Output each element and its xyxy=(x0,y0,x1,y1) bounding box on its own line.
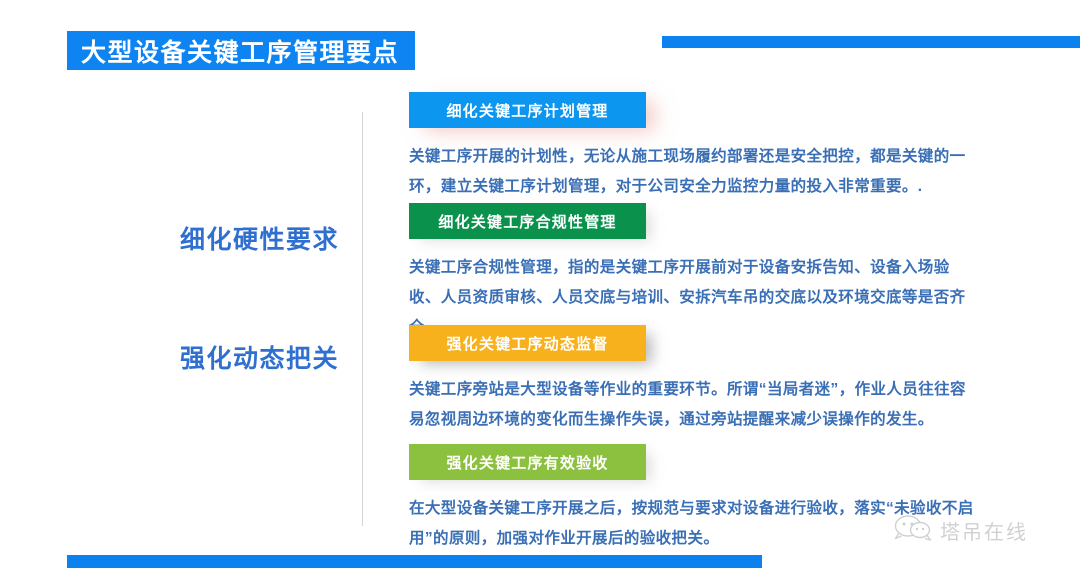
side-label-strengthen-dynamic-control: 强化动态把关 xyxy=(180,339,339,375)
badge-label: 细化关键工序计划管理 xyxy=(446,100,608,121)
wechat-bubbles-icon xyxy=(893,513,933,548)
page-title-banner: 大型设备关键工序管理要点 xyxy=(67,31,415,70)
badge-plan-management: 细化关键工序计划管理 xyxy=(409,92,646,128)
badge-label: 细化关键工序合规性管理 xyxy=(438,211,616,232)
content-block-compliance-management: 细化关键工序合规性管理 关键工序合规性管理，指的是关键工序开展前对于设备安拆告知… xyxy=(409,203,979,343)
watermark: 塔吊在线 xyxy=(893,513,1028,548)
content-block-dynamic-supervision: 强化关键工序动态监督 关键工序旁站是大型设备等作业的重要环节。所谓“当局者迷”，… xyxy=(409,325,979,435)
body-text-dynamic-supervision: 关键工序旁站是大型设备等作业的重要环节。所谓“当局者迷”，作业人员往往容易忽视周… xyxy=(409,375,979,435)
badge-label: 强化关键工序有效验收 xyxy=(446,452,608,473)
decorative-bar-bottom-left xyxy=(67,555,762,568)
badge-dynamic-supervision: 强化关键工序动态监督 xyxy=(409,325,646,361)
page-title: 大型设备关键工序管理要点 xyxy=(81,33,399,69)
vertical-divider xyxy=(362,112,363,526)
body-text-plan-management: 关键工序开展的计划性，无论从施工现场履约部署还是安全把控，都是关键的一环，建立关… xyxy=(409,142,979,202)
content-block-plan-management: 细化关键工序计划管理 关键工序开展的计划性，无论从施工现场履约部署还是安全把控，… xyxy=(409,92,979,202)
side-label-refine-hard-requirements: 细化硬性要求 xyxy=(180,220,339,256)
badge-compliance-management: 细化关键工序合规性管理 xyxy=(409,203,646,239)
slide-canvas: 大型设备关键工序管理要点 细化硬性要求 强化动态把关 细化关键工序计划管理 关键… xyxy=(0,0,1080,572)
watermark-label: 塔吊在线 xyxy=(940,516,1028,545)
decorative-bar-top-right xyxy=(662,36,1080,48)
badge-label: 强化关键工序动态监督 xyxy=(446,333,608,354)
badge-effective-acceptance: 强化关键工序有效验收 xyxy=(409,444,646,480)
